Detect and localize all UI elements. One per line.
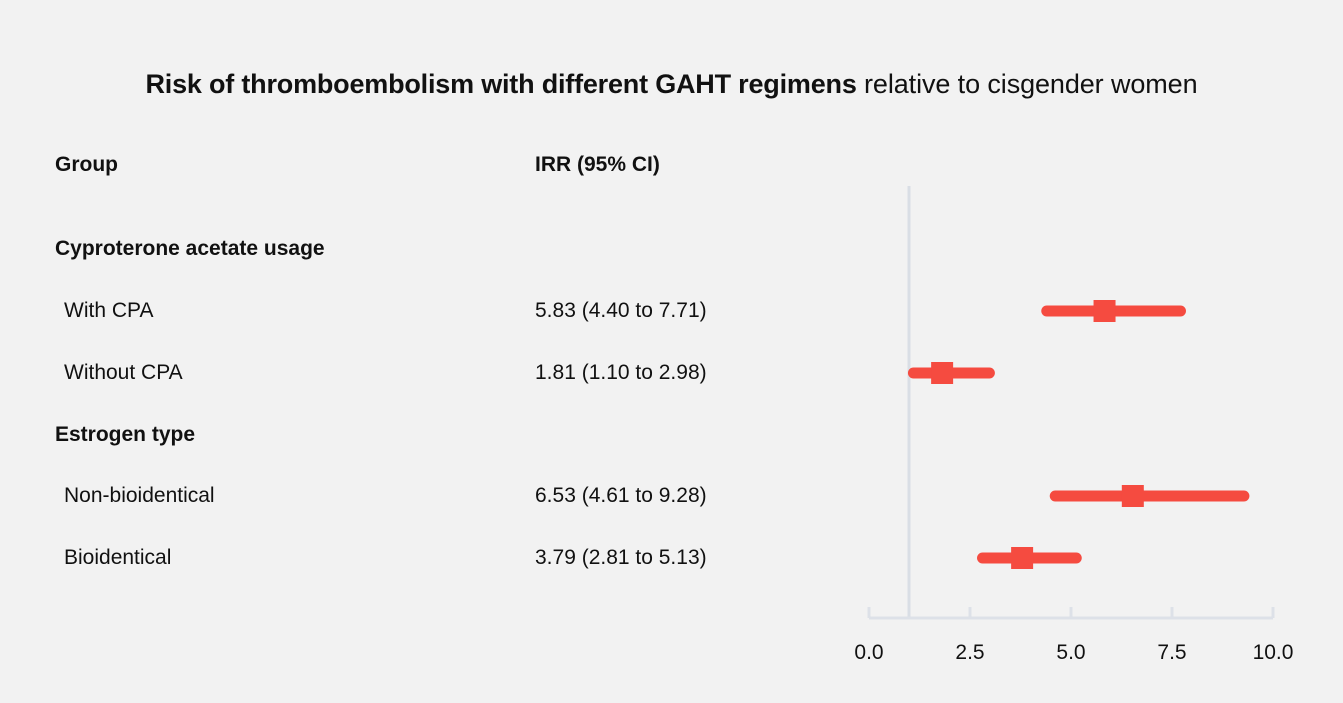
forest-plot-point bbox=[913, 362, 989, 384]
row-value: 3.79 (2.81 to 5.13) bbox=[535, 544, 707, 572]
x-axis-tick-label: 0.0 bbox=[854, 640, 883, 666]
forest-plot-point bbox=[1047, 300, 1181, 322]
row-label: Bioidentical bbox=[64, 544, 171, 572]
table-section-cyproterone-acetate-usage: Cyproterone acetate usage bbox=[0, 235, 840, 263]
x-axis-tick-label: 10.0 bbox=[1253, 640, 1294, 666]
forest-plot-series bbox=[913, 300, 1243, 569]
table-header-row: Group IRR (95% CI) bbox=[0, 151, 840, 179]
row-value: 1.81 (1.10 to 2.98) bbox=[535, 359, 707, 387]
table-row-bioidentical: Bioidentical 3.79 (2.81 to 5.13) bbox=[0, 544, 840, 572]
point-estimate-marker bbox=[1122, 485, 1144, 507]
forest-plot-point bbox=[1055, 485, 1244, 507]
column-header-group: Group bbox=[55, 151, 118, 179]
point-estimate-marker bbox=[1011, 547, 1033, 569]
table-row-without-cpa: Without CPA 1.81 (1.10 to 2.98) bbox=[0, 359, 840, 387]
x-axis-tick-label: 5.0 bbox=[1056, 640, 1085, 666]
row-label: With CPA bbox=[64, 297, 153, 325]
x-axis-tick-label: 7.5 bbox=[1157, 640, 1186, 666]
column-header-value: IRR (95% CI) bbox=[535, 151, 660, 179]
section-label: Cyproterone acetate usage bbox=[55, 235, 325, 263]
point-estimate-marker bbox=[1094, 300, 1116, 322]
table-row-non-bioidentical: Non-bioidentical 6.53 (4.61 to 9.28) bbox=[0, 482, 840, 510]
section-label: Estrogen type bbox=[55, 421, 195, 449]
row-value: 6.53 (4.61 to 9.28) bbox=[535, 482, 707, 510]
table-section-estrogen-type: Estrogen type bbox=[0, 421, 840, 449]
x-axis-tick-label: 2.5 bbox=[955, 640, 984, 666]
x-axis-ticks bbox=[869, 607, 1273, 618]
row-value: 5.83 (4.40 to 7.71) bbox=[535, 297, 707, 325]
point-estimate-marker bbox=[931, 362, 953, 384]
forest-plot-point bbox=[983, 547, 1077, 569]
row-label: Without CPA bbox=[64, 359, 183, 387]
forest-plot-figure: Risk of thromboembolism with different G… bbox=[0, 0, 1343, 703]
table-row-with-cpa: With CPA 5.83 (4.40 to 7.71) bbox=[0, 297, 840, 325]
chart-title-light: relative to cisgender women bbox=[857, 69, 1198, 99]
row-label: Non-bioidentical bbox=[64, 482, 215, 510]
results-table: Group IRR (95% CI) Cyproterone acetate u… bbox=[0, 0, 840, 703]
